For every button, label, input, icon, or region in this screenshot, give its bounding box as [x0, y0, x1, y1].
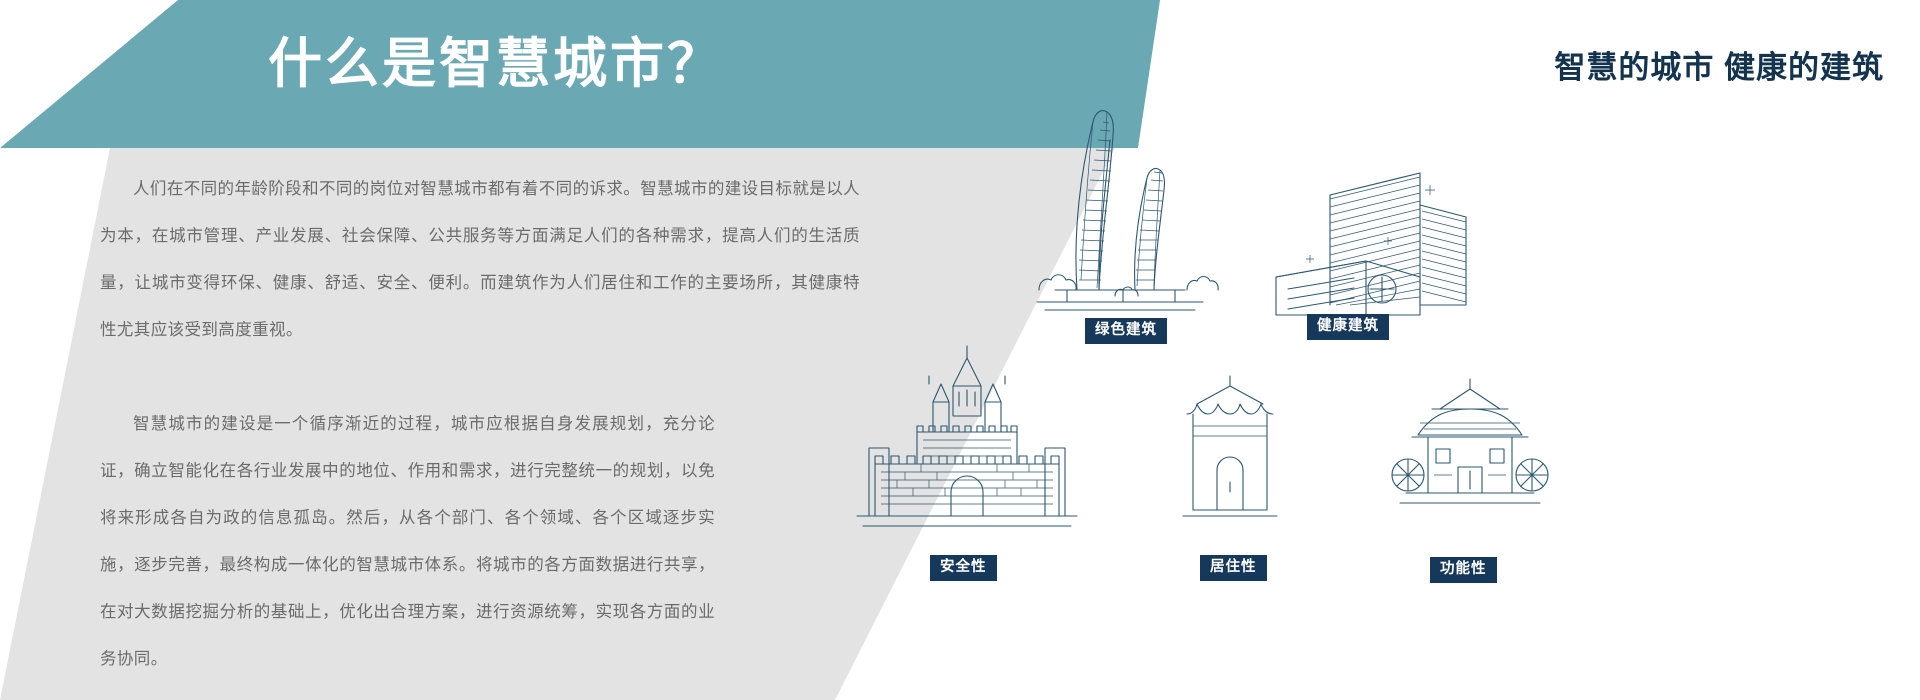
label-badge-functionality: 功能性 — [1430, 557, 1497, 583]
label-badge-livability: 居住性 — [1200, 555, 1267, 581]
illustration-area: 绿色建筑 — [820, 90, 1920, 700]
label-badge-safety: 安全性 — [930, 555, 997, 581]
pavilion-icon — [1390, 375, 1550, 525]
paragraph-2: 智慧城市的建设是一个循序渐近的过程，城市应根据自身发展规划，充分论证，确立智能化… — [100, 401, 715, 683]
house-shop-icon — [1175, 370, 1285, 525]
paragraph-1: 人们在不同的年龄阶段和不同的岗位对智慧城市都有着不同的诉求。智慧城市的建设目标就… — [100, 166, 860, 354]
twisted-towers-icon — [1015, 100, 1225, 315]
castle-icon — [855, 340, 1080, 540]
page-title: 什么是智慧城市？ — [268, 32, 724, 96]
label-badge-green-building: 绿色建筑 — [1085, 318, 1167, 344]
body-text-block: 人们在不同的年龄阶段和不同的岗位对智慧城市都有着不同的诉求。智慧城市的建设目标就… — [100, 166, 900, 683]
headline: 智慧的城市 健康的建筑 — [1554, 42, 1884, 87]
hospital-building-icon — [1270, 165, 1485, 325]
slide-root: 什么是智慧城市？ 智慧的城市 健康的建筑 人们在不同的年龄阶段和不同的岗位对智慧… — [0, 0, 1920, 700]
label-badge-health-building: 健康建筑 — [1307, 314, 1389, 340]
